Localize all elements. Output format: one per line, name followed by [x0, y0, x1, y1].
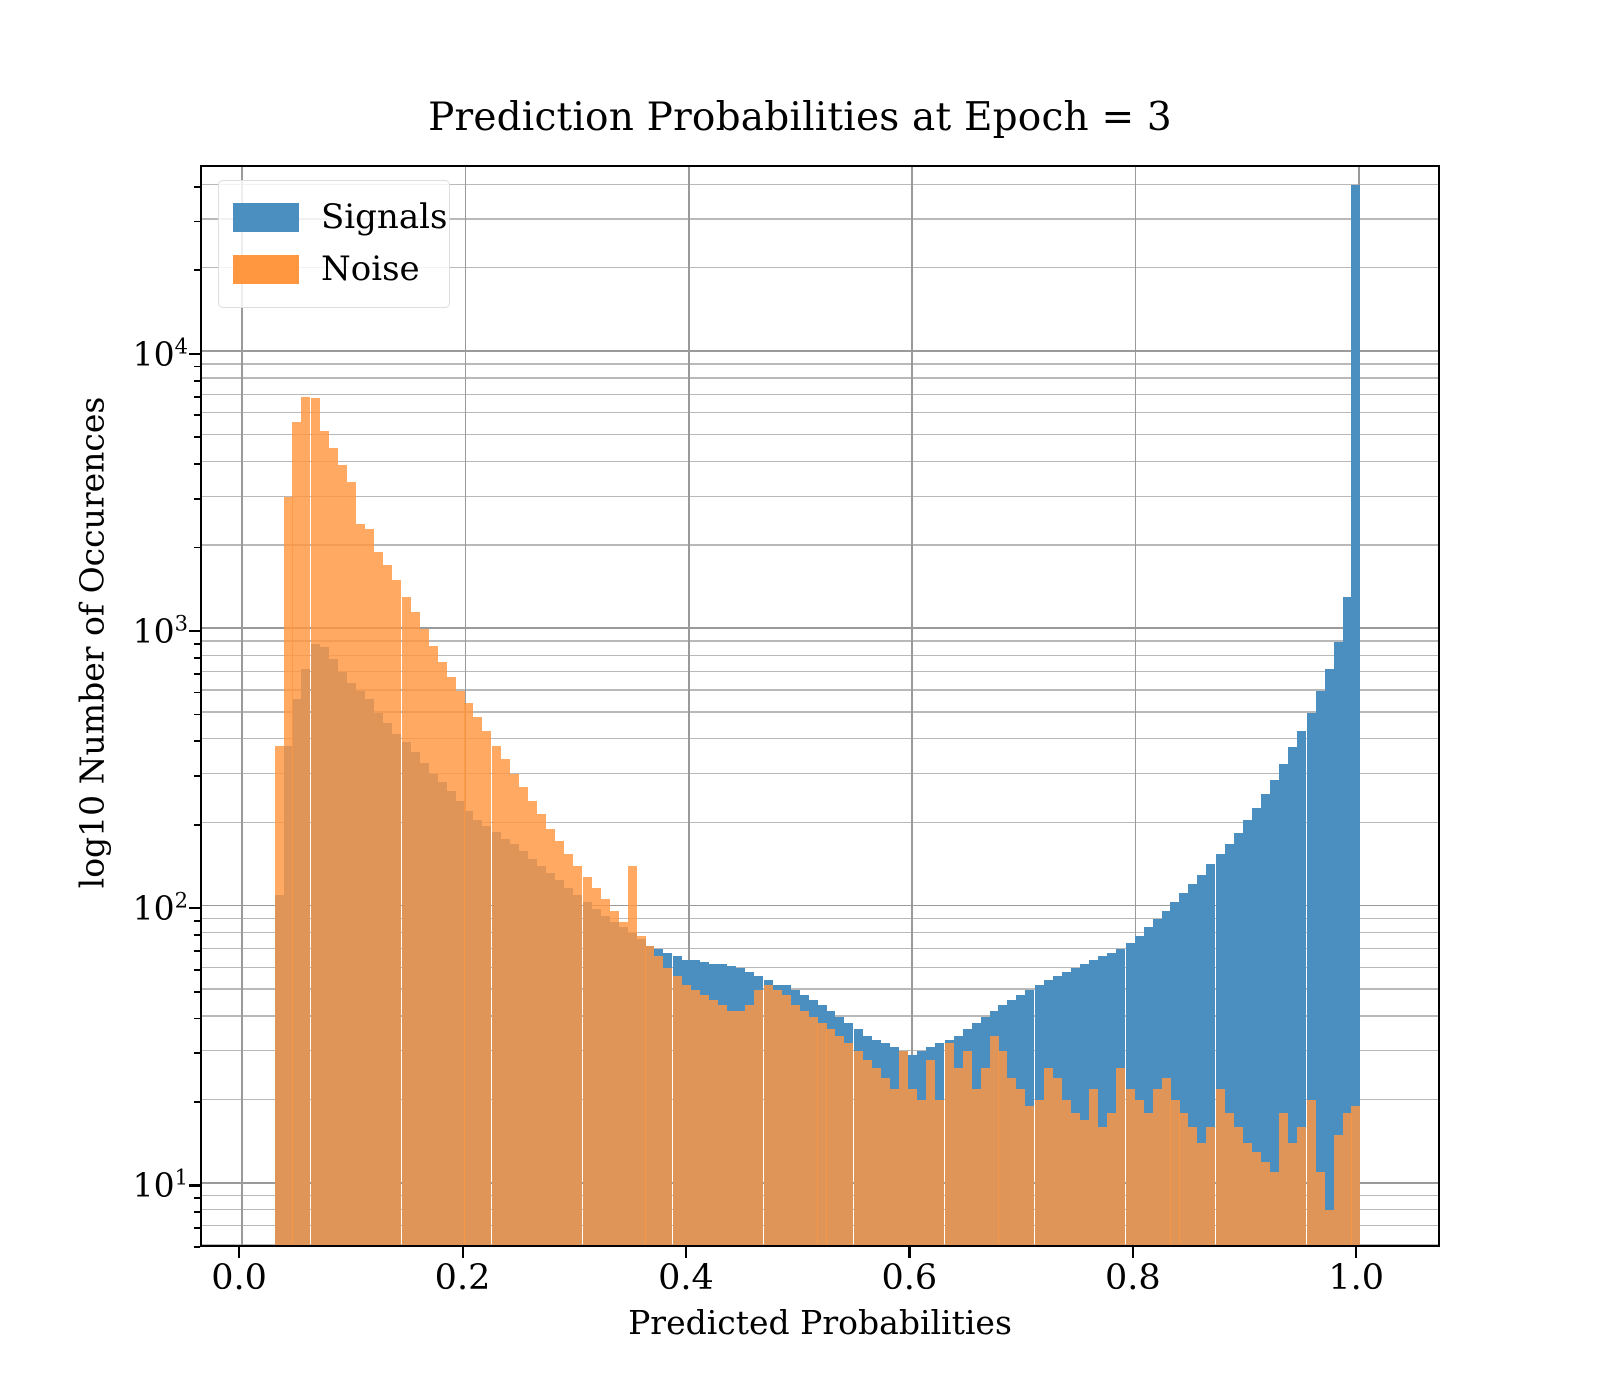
- histogram-bar: [1098, 1127, 1107, 1245]
- histogram-bar: [645, 946, 654, 1245]
- histogram-bar: [356, 524, 365, 1245]
- histogram-bar: [573, 866, 582, 1245]
- histogram-bar: [954, 1068, 963, 1245]
- histogram-bar: [981, 1068, 990, 1245]
- histogram-bar: [817, 1023, 826, 1245]
- histogram-bar: [826, 1029, 835, 1245]
- histogram-bar: [619, 922, 628, 1245]
- histogram-bar: [592, 888, 601, 1245]
- y-tick-mark: [189, 630, 200, 632]
- y-tick-mark: [194, 436, 200, 438]
- histogram-bar: [1170, 1100, 1179, 1245]
- x-tick-mark: [685, 1247, 687, 1258]
- y-tick-mark: [194, 380, 200, 382]
- histogram-bar: [564, 854, 573, 1245]
- y-tick-mark: [194, 1197, 200, 1199]
- x-axis-label: Predicted Probabilities: [200, 1303, 1440, 1342]
- y-tick-mark: [194, 643, 200, 645]
- histogram-bar: [320, 431, 329, 1245]
- histogram-bar: [1261, 1162, 1270, 1245]
- histogram-bar: [872, 1068, 881, 1245]
- y-tick-mark: [194, 1211, 200, 1213]
- histogram-bar: [374, 552, 383, 1245]
- histogram-bar: [782, 995, 791, 1245]
- y-tick-label: 102: [133, 889, 188, 928]
- y-tick-mark: [194, 740, 200, 742]
- histogram-bar: [764, 985, 773, 1245]
- histogram-bar: [908, 1089, 917, 1245]
- y-axis-label: log10 Number of Occurences: [73, 293, 112, 993]
- histogram-bar: [1316, 691, 1325, 1245]
- x-tick-mark: [238, 1247, 240, 1258]
- histogram-bar: [1107, 1113, 1116, 1245]
- legend-item-signals: Signals: [233, 191, 435, 243]
- histogram-bar: [736, 1011, 745, 1245]
- histogram-bar: [1325, 669, 1334, 1245]
- histogram-bar: [1025, 1106, 1034, 1245]
- y-tick-mark: [194, 969, 200, 971]
- y-tick-mark: [194, 991, 200, 993]
- histogram-bar: [1053, 1078, 1062, 1245]
- y-tick-mark: [194, 714, 200, 716]
- y-tick-mark: [194, 1018, 200, 1020]
- histogram-bar: [519, 787, 528, 1245]
- y-tick-mark: [194, 186, 200, 188]
- histogram-bar: [800, 1011, 809, 1245]
- histogram-bar: [1080, 1120, 1089, 1245]
- histogram-bar: [890, 1089, 899, 1245]
- y-tick-mark: [194, 934, 200, 936]
- histogram-bar: [275, 746, 284, 1245]
- x-tick-label: 0.0: [211, 1258, 267, 1298]
- histogram-bar: [963, 1051, 972, 1245]
- y-tick-mark: [194, 221, 200, 223]
- histogram-bar: [1044, 1068, 1053, 1245]
- histogram-bar: [700, 995, 709, 1245]
- histogram-bar: [791, 1005, 800, 1245]
- histogram-bar: [1307, 1100, 1316, 1245]
- histogram-bar: [1325, 1210, 1334, 1245]
- y-tick-label: 101: [133, 1166, 188, 1205]
- histogram-bar: [1116, 1068, 1125, 1245]
- histogram-bar: [881, 1078, 890, 1245]
- histogram-bar: [844, 1043, 853, 1245]
- y-tick-mark: [194, 498, 200, 500]
- histogram-bar: [555, 841, 564, 1245]
- x-tick-label: 0.4: [658, 1258, 714, 1298]
- y-tick-mark: [194, 920, 200, 922]
- histogram-bar: [935, 1100, 944, 1245]
- legend-label-noise: Noise: [321, 249, 420, 289]
- y-tick-label: 104: [133, 334, 188, 373]
- y-tick-mark: [194, 824, 200, 826]
- y-tick-mark: [189, 907, 200, 909]
- histogram-bar: [329, 448, 338, 1245]
- histogram-bar: [1089, 1089, 1098, 1245]
- histogram-bar: [1351, 1106, 1360, 1245]
- histogram-bar: [727, 1011, 736, 1245]
- y-tick-mark: [194, 463, 200, 465]
- histogram-bar: [1135, 1100, 1144, 1245]
- legend-label-signals: Signals: [321, 197, 447, 237]
- histogram-bar: [1162, 1078, 1171, 1245]
- histogram-bar: [809, 1017, 818, 1245]
- histogram-bar: [835, 1036, 844, 1245]
- y-tick-mark: [194, 657, 200, 659]
- x-tick-mark: [462, 1247, 464, 1258]
- x-tick-label: 1.0: [1328, 1258, 1384, 1298]
- y-tick-mark: [194, 547, 200, 549]
- histogram-bar: [429, 646, 438, 1245]
- histogram-bar: [1334, 1135, 1343, 1245]
- y-tick-mark: [194, 1246, 200, 1248]
- histogram-bar: [546, 829, 555, 1245]
- histogram-bar: [1144, 1113, 1153, 1245]
- legend-swatch-signals: [233, 203, 299, 232]
- histogram-bar: [510, 774, 519, 1245]
- histogram-bar: [1351, 185, 1360, 1245]
- histogram-bar: [1243, 1143, 1252, 1245]
- y-tick-mark: [194, 1227, 200, 1229]
- histogram-bar: [1071, 1113, 1080, 1245]
- histogram-bar: [482, 731, 491, 1245]
- histogram-bar: [990, 1036, 999, 1245]
- histogram-bar: [1062, 1100, 1071, 1245]
- histogram-bar: [1316, 1172, 1325, 1245]
- y-tick-mark: [194, 673, 200, 675]
- histogram-bar: [1279, 1113, 1288, 1245]
- y-tick-mark: [189, 353, 200, 355]
- histogram-bar: [1016, 1089, 1025, 1245]
- histogram-bar: [899, 1051, 908, 1245]
- histogram-bar: [365, 529, 374, 1245]
- y-tick-mark: [194, 950, 200, 952]
- histogram-bar: [610, 911, 619, 1245]
- histogram-bar: [718, 1005, 727, 1245]
- legend: Signals Noise: [218, 180, 450, 308]
- histogram-bar: [301, 397, 310, 1245]
- histogram-bar: [1234, 1127, 1243, 1245]
- histogram-bar: [654, 956, 663, 1245]
- histogram-bar: [338, 465, 347, 1245]
- histogram-bar: [754, 990, 763, 1245]
- histogram-bar: [402, 597, 411, 1245]
- x-tick-mark: [1132, 1247, 1134, 1258]
- histogram-bar: [745, 1005, 754, 1245]
- histogram-bar: [392, 580, 401, 1245]
- histogram-bar: [628, 866, 637, 1245]
- histogram-bar: [1252, 1152, 1261, 1245]
- histogram-bar: [1179, 1113, 1188, 1245]
- x-tick-label: 0.2: [435, 1258, 491, 1298]
- y-tick-mark: [194, 775, 200, 777]
- histogram-bar: [682, 985, 691, 1245]
- y-tick-mark: [194, 1052, 200, 1054]
- histogram-bar: [1126, 1089, 1135, 1245]
- y-tick-mark: [194, 414, 200, 416]
- histogram-bar: [284, 497, 293, 1245]
- y-tick-mark: [194, 269, 200, 271]
- y-tick-mark: [194, 396, 200, 398]
- histogram-bar: [1153, 1089, 1162, 1245]
- legend-item-noise: Noise: [233, 243, 435, 295]
- histogram-bar: [1007, 1078, 1016, 1245]
- histogram-bar: [447, 677, 456, 1245]
- y-tick-mark: [194, 366, 200, 368]
- histogram-bar: [492, 746, 501, 1245]
- histogram-bar: [854, 1051, 863, 1245]
- histogram-bar: [311, 398, 320, 1245]
- histogram-bar: [709, 1000, 718, 1245]
- x-tick-mark: [908, 1247, 910, 1258]
- histogram-bar: [1197, 1143, 1206, 1245]
- x-tick-label: 0.8: [1105, 1258, 1161, 1298]
- histogram-bar: [945, 1043, 954, 1245]
- histogram-bar: [673, 976, 682, 1245]
- histogram-bar: [663, 968, 672, 1245]
- histogram-bar: [637, 936, 646, 1245]
- histogram-bar: [1035, 1100, 1044, 1245]
- histogram-bar: [1188, 1127, 1197, 1245]
- x-tick-label: 0.6: [882, 1258, 938, 1298]
- histogram-bar: [863, 1060, 872, 1245]
- histogram-bar: [438, 662, 447, 1245]
- histogram-bar: [1216, 1089, 1225, 1245]
- y-tick-mark: [189, 1184, 200, 1186]
- histogram-bar: [1297, 1127, 1306, 1245]
- histogram-bar: [347, 482, 356, 1245]
- histogram-bar: [601, 899, 610, 1245]
- histogram-bar: [411, 612, 420, 1245]
- x-tick-mark: [1355, 1247, 1357, 1258]
- histogram-bar: [926, 1060, 935, 1245]
- histogram-bar: [292, 422, 301, 1245]
- histogram-bar: [501, 759, 510, 1245]
- y-tick-label: 103: [133, 612, 188, 651]
- y-tick-mark: [194, 1101, 200, 1103]
- histogram-bar: [972, 1089, 981, 1245]
- plot-area: [200, 165, 1440, 1247]
- histogram-bar: [383, 565, 392, 1245]
- histogram-bar: [473, 717, 482, 1245]
- histogram-bar: [583, 877, 592, 1245]
- histogram-bar: [773, 990, 782, 1245]
- legend-swatch-noise: [233, 255, 299, 284]
- histogram-bar: [998, 1051, 1007, 1245]
- histogram-bar: [1206, 1127, 1215, 1245]
- histogram-bar: [537, 814, 546, 1245]
- histogram-bar: [420, 629, 429, 1245]
- histogram-bars: [202, 167, 1438, 1245]
- histogram-bar: [1225, 1113, 1234, 1245]
- figure-canvas: Prediction Probabilities at Epoch = 3 0.…: [0, 0, 1600, 1400]
- histogram-bar: [456, 691, 465, 1245]
- histogram-bar: [691, 990, 700, 1245]
- histogram-bar: [917, 1100, 926, 1245]
- histogram-bar: [464, 703, 473, 1245]
- histogram-bar: [1270, 1172, 1279, 1245]
- histogram-bar: [1288, 1143, 1297, 1245]
- histogram-bar: [528, 801, 537, 1245]
- page-title: Prediction Probabilities at Epoch = 3: [0, 95, 1600, 140]
- histogram-bar: [1343, 1113, 1352, 1245]
- y-tick-mark: [194, 692, 200, 694]
